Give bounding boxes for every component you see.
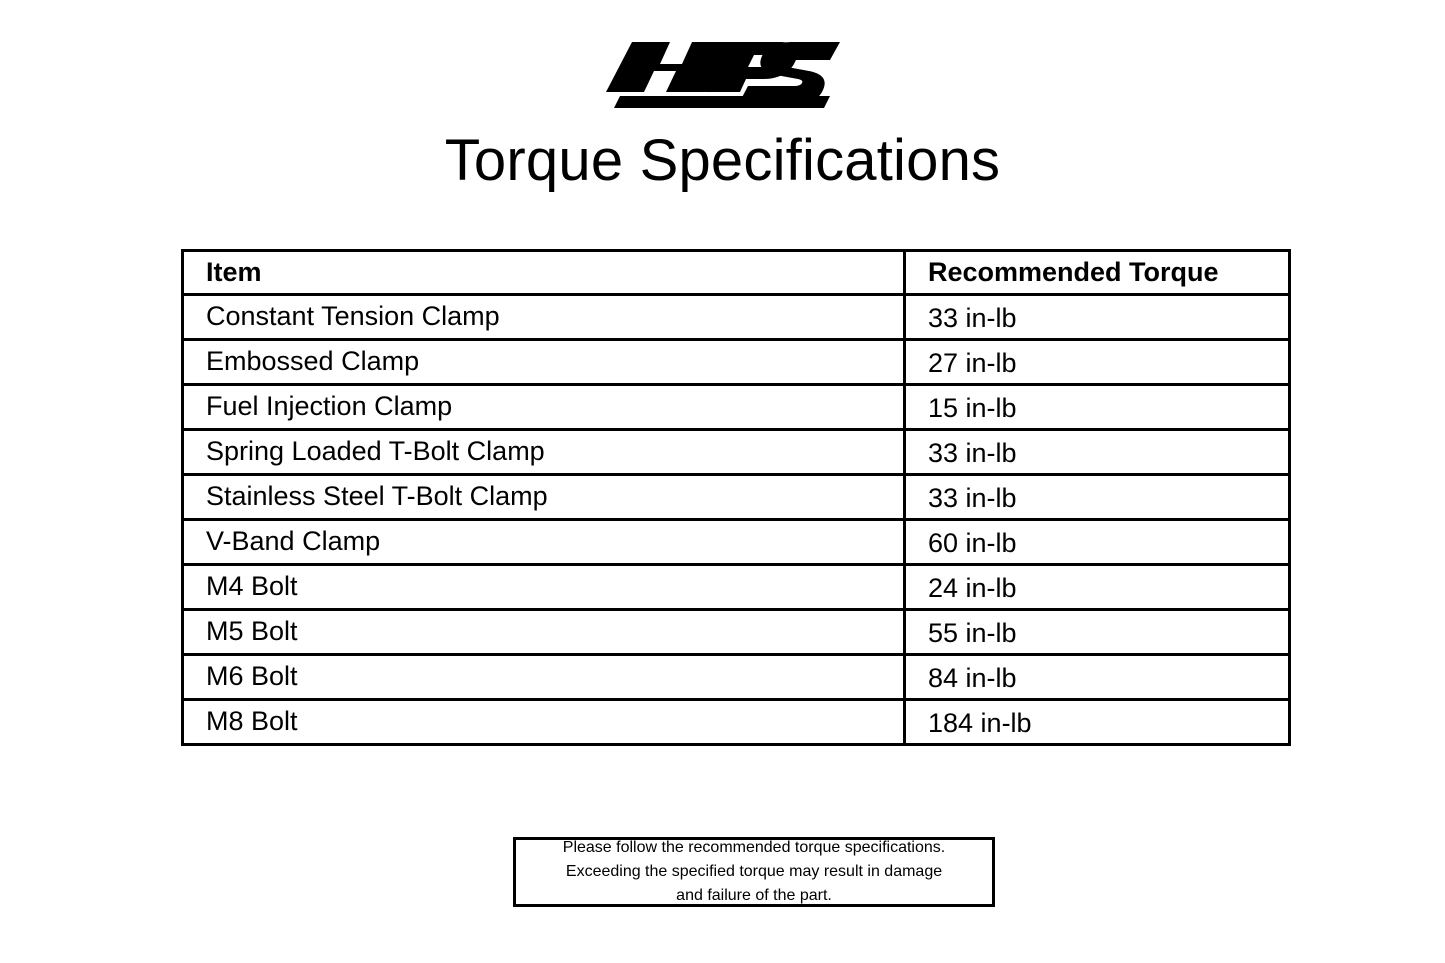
table-row: M4 Bolt 24 in-lb <box>183 565 1290 610</box>
cell-item: Spring Loaded T-Bolt Clamp <box>183 430 905 475</box>
item-label: M8 Bolt <box>184 707 903 737</box>
torque-value: 60 in-lb <box>906 525 1288 559</box>
torque-value: 55 in-lb <box>906 615 1288 649</box>
cell-item: Embossed Clamp <box>183 340 905 385</box>
torque-value: 33 in-lb <box>906 435 1288 469</box>
cell-item: V-Band Clamp <box>183 520 905 565</box>
torque-value: 184 in-lb <box>906 705 1288 739</box>
note-line: and failure of the part. <box>676 884 832 908</box>
torque-value: 33 in-lb <box>906 300 1288 334</box>
column-header-torque: Recommended Torque <box>905 251 1290 295</box>
table-row: Fuel Injection Clamp 15 in-lb <box>183 385 1290 430</box>
table-row: M6 Bolt 84 in-lb <box>183 655 1290 700</box>
table-row: Constant Tension Clamp 33 in-lb <box>183 295 1290 340</box>
item-label: Stainless Steel T-Bolt Clamp <box>184 482 903 512</box>
item-label: Fuel Injection Clamp <box>184 392 903 422</box>
torque-value: 27 in-lb <box>906 345 1288 379</box>
table-row: Embossed Clamp 27 in-lb <box>183 340 1290 385</box>
cell-item: Constant Tension Clamp <box>183 295 905 340</box>
cell-torque: 15 in-lb <box>905 385 1290 430</box>
table-row: M5 Bolt 55 in-lb <box>183 610 1290 655</box>
table-header-row: Item Recommended Torque <box>183 251 1290 295</box>
table-row: Spring Loaded T-Bolt Clamp 33 in-lb <box>183 430 1290 475</box>
item-label: M6 Bolt <box>184 662 903 692</box>
note-line: Please follow the recommended torque spe… <box>563 836 945 860</box>
torque-value: 33 in-lb <box>906 480 1288 514</box>
torque-warning-note: Please follow the recommended torque spe… <box>513 837 995 907</box>
hps-logo-icon <box>604 34 842 108</box>
item-label: Spring Loaded T-Bolt Clamp <box>184 437 903 467</box>
item-label: M5 Bolt <box>184 617 903 647</box>
cell-torque: 33 in-lb <box>905 475 1290 520</box>
cell-item: M6 Bolt <box>183 655 905 700</box>
cell-torque: 24 in-lb <box>905 565 1290 610</box>
cell-torque: 184 in-lb <box>905 700 1290 745</box>
column-header-item: Item <box>183 251 905 295</box>
column-header-item-label: Item <box>184 258 903 288</box>
cell-item: Stainless Steel T-Bolt Clamp <box>183 475 905 520</box>
torque-value: 84 in-lb <box>906 660 1288 694</box>
table-row: M8 Bolt 184 in-lb <box>183 700 1290 745</box>
torque-value: 24 in-lb <box>906 570 1288 604</box>
cell-item: M4 Bolt <box>183 565 905 610</box>
table-row: V-Band Clamp 60 in-lb <box>183 520 1290 565</box>
cell-item: M8 Bolt <box>183 700 905 745</box>
torque-spec-table: Item Recommended Torque Constant Tension… <box>181 249 1288 746</box>
cell-torque: 33 in-lb <box>905 295 1290 340</box>
item-label: Embossed Clamp <box>184 347 903 377</box>
cell-torque: 33 in-lb <box>905 430 1290 475</box>
cell-torque: 60 in-lb <box>905 520 1290 565</box>
page-title: Torque Specifications <box>0 131 1445 192</box>
brand-logo <box>0 34 1445 113</box>
item-label: M4 Bolt <box>184 572 903 602</box>
cell-item: Fuel Injection Clamp <box>183 385 905 430</box>
item-label: Constant Tension Clamp <box>184 302 903 332</box>
item-label: V-Band Clamp <box>184 527 903 557</box>
column-header-torque-label: Recommended Torque <box>906 258 1288 288</box>
torque-value: 15 in-lb <box>906 390 1288 424</box>
cell-torque: 84 in-lb <box>905 655 1290 700</box>
cell-torque: 27 in-lb <box>905 340 1290 385</box>
cell-torque: 55 in-lb <box>905 610 1290 655</box>
table-row: Stainless Steel T-Bolt Clamp 33 in-lb <box>183 475 1290 520</box>
cell-item: M5 Bolt <box>183 610 905 655</box>
note-line: Exceeding the specified torque may resul… <box>566 860 942 884</box>
